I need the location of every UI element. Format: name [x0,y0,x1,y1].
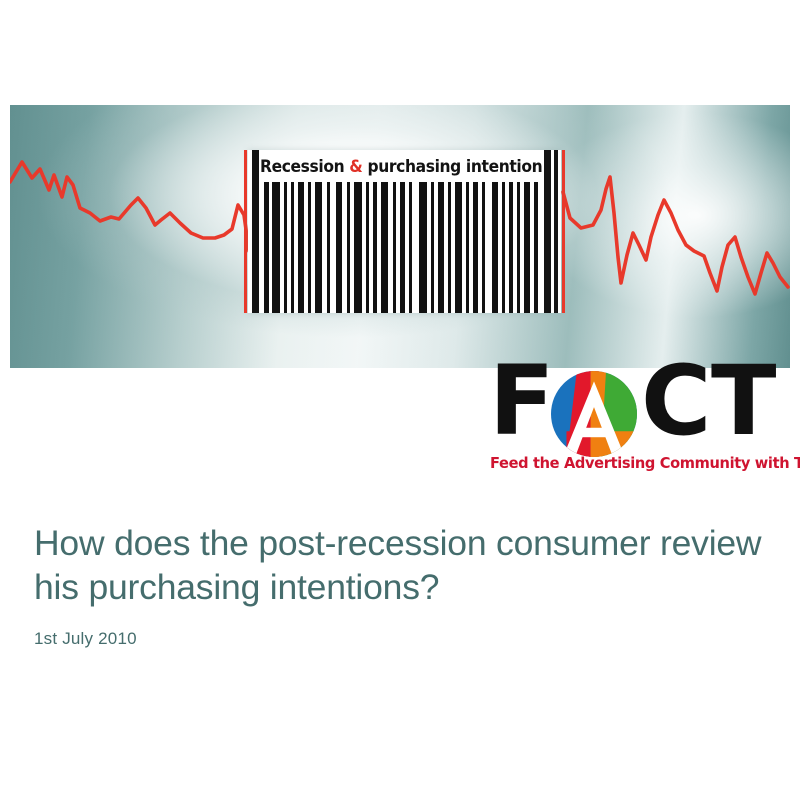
barcode-bar [327,182,330,313]
logo-letter-c: C [641,360,708,442]
fact-wordmark: F C T [489,368,789,450]
barcode-red-edge-left [244,150,247,313]
barcode-bar [366,182,369,313]
barcode-bar [502,182,505,313]
barcode-bar [438,182,444,313]
barcode-bar [298,182,304,313]
barcode-bar [524,182,530,313]
barcode-bar [409,182,412,313]
barcode-red-edge-right [562,150,565,313]
barcode-bar [308,182,311,313]
logo-letter-f: F [489,360,552,442]
barcode-bar [509,182,513,313]
logo-letter-a-colorwheel-icon [551,371,637,457]
barcode-title: Recession & purchasing intention [260,157,534,176]
barcode-bar [393,182,396,313]
barcode-bars [248,182,561,313]
barcode-bar [284,182,287,313]
trendline-right [563,177,788,294]
fact-logo: F C T Feed the Advert [489,368,789,476]
barcode-title-ampersand: & [349,157,362,176]
barcode-bar [336,182,342,313]
title-block: How does the post-recession consumer rev… [34,521,764,649]
barcode-bar [272,182,280,313]
trendline-left [10,162,262,251]
barcode-bar [400,182,405,313]
barcode-bar [347,182,350,313]
barcode-bar [264,182,269,313]
barcode-title-suffix: purchasing intention [362,157,542,176]
logo-letter-t: T [711,360,773,442]
barcode-bar [448,182,451,313]
barcode-bar [315,182,322,313]
barcode-bar [517,182,520,313]
barcode-bar [373,182,377,313]
barcode-bar [381,182,388,313]
barcode-bar [534,182,538,313]
logo-tagline: Feed the Advertising Community with Tren… [490,454,800,472]
barcode-bar [419,182,427,313]
barcode-graphic: Recession & purchasing intention [248,150,561,313]
barcode-bar [455,182,462,313]
barcode-bar [431,182,434,313]
barcode-bar [354,182,362,313]
barcode-title-prefix: Recession [260,157,349,176]
presentation-date: 1st July 2010 [34,629,764,649]
page-title: How does the post-recession consumer rev… [34,521,764,609]
barcode-bar [291,182,294,313]
barcode-bar [482,182,485,313]
barcode-bar [466,182,469,313]
barcode-bar [473,182,478,313]
hero-banner: Recession & purchasing intention [10,105,790,368]
barcode-bar [492,182,498,313]
